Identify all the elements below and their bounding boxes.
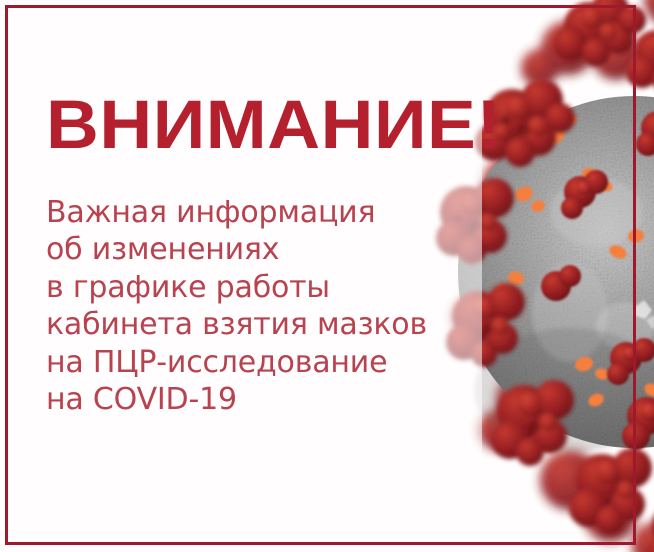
covid-notice-poster: ВНИМАНИЕ! Важная информация об изменения…: [0, 0, 654, 552]
page-title: ВНИМАНИЕ!: [46, 92, 491, 158]
virus-spikes-front: [436, 0, 654, 552]
virus-orange-accents: [494, 92, 654, 454]
body-line: на COVID-19: [46, 381, 466, 419]
virus-spikes-back: [452, 0, 654, 552]
body-line: об изменениях: [46, 231, 466, 269]
body-line: кабинета взятия мазков: [46, 306, 466, 344]
notice-body-text: Важная информация об изменениях в график…: [46, 194, 466, 419]
body-line: на ПЦР-исследование: [46, 344, 466, 382]
body-line: Важная информация: [46, 194, 466, 232]
body-line: в графике работы: [46, 269, 466, 307]
poster-text-block: ВНИМАНИЕ! Важная информация об изменения…: [46, 92, 466, 419]
